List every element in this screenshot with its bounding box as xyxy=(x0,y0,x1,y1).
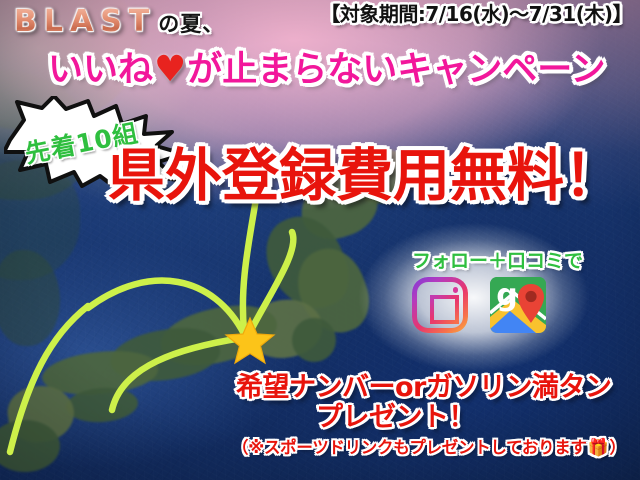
instagram-lens-ring xyxy=(430,295,459,324)
promo-banner: BLAST の夏、 【対象期間:7/16(水)〜7/31(木)】 いいね ♥ が… xyxy=(0,0,640,480)
note-open-text: （※スポーツドリンクもプレゼントしております xyxy=(232,440,587,457)
gift-offer-line-1: 希望ナンバーorガソリン満タン xyxy=(236,374,611,401)
brand-name: BLAST xyxy=(14,7,156,37)
brand-suffix: の夏、 xyxy=(158,14,224,35)
note-close-text: ） xyxy=(610,440,626,457)
follow-instruction-label: フォロー＋口コミで xyxy=(412,252,583,271)
heart-icon: ♥ xyxy=(154,52,186,88)
google-maps-icon[interactable]: g xyxy=(490,277,546,333)
sports-drink-note: （※スポーツドリンクもプレゼントしております 🎁 ） xyxy=(232,440,626,457)
google-maps-glyph: g xyxy=(490,277,546,333)
main-offer-headline: 県外登録費用無料！ xyxy=(108,148,621,205)
headline-segment-after: が止まらないキャンペーン xyxy=(187,53,605,88)
gift-icon: 🎁 xyxy=(588,440,609,457)
headline-segment-before: いいね xyxy=(48,53,153,88)
gift-offer-line-2: プレゼント！ xyxy=(316,404,475,431)
campaign-headline: いいね ♥ が止まらないキャンペーン xyxy=(48,52,606,88)
social-icons-group: g xyxy=(412,277,546,333)
campaign-period-banner: 【対象期間:7/16(水)〜7/31(木)】 xyxy=(320,4,632,24)
brand-wordmark: BLAST の夏、 xyxy=(14,7,224,37)
instagram-flash-dot xyxy=(453,287,459,293)
destination-star-icon xyxy=(224,316,276,366)
instagram-icon[interactable] xyxy=(412,277,468,333)
svg-text:g: g xyxy=(496,278,517,313)
